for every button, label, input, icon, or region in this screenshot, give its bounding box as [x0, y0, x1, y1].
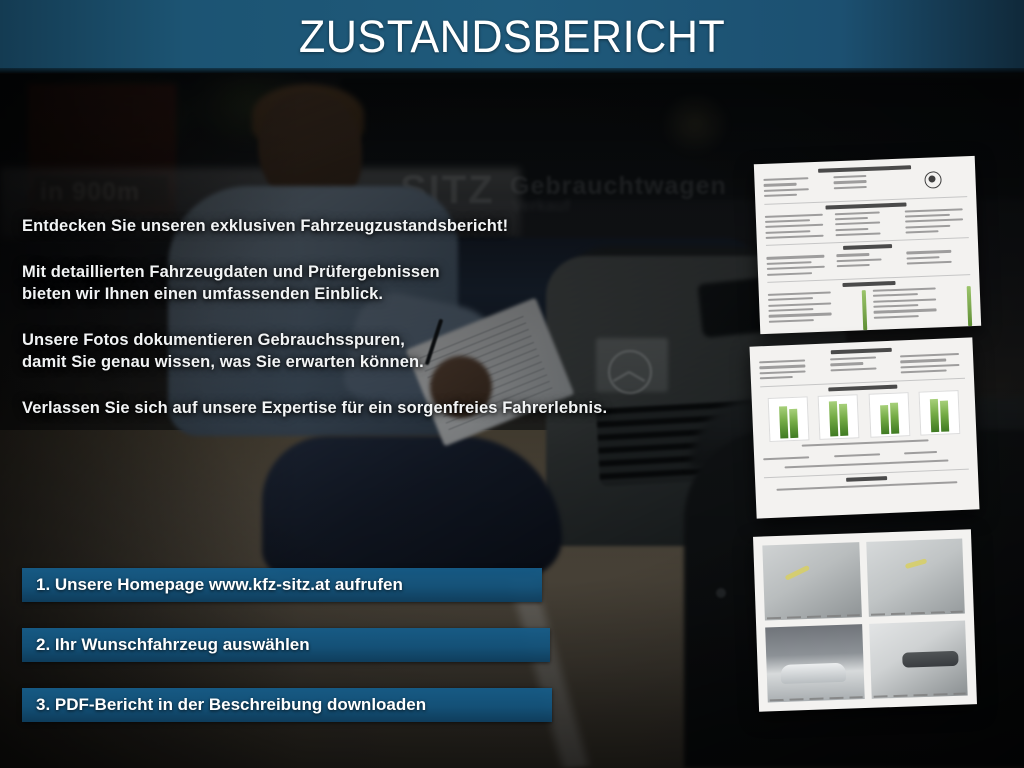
report1-col-a — [763, 177, 827, 201]
report2-notes-mid — [834, 452, 898, 460]
vehicle-data-report-card[interactable] — [754, 156, 981, 334]
step-item-2[interactable]: 2. Ihr Wunschfahrzeug auswählen — [22, 628, 550, 662]
report1-result-left — [768, 290, 856, 333]
report1-heading — [818, 165, 911, 173]
intro-paragraph-1: Entdecken Sie unseren exklusiven Fahrzeu… — [22, 215, 682, 237]
chart-group-karosserie — [768, 396, 810, 442]
intro-copy: Entdecken Sie unseren exklusiven Fahrzeu… — [22, 215, 682, 419]
report1-subheading-3 — [843, 281, 896, 287]
report1-result-right — [873, 286, 961, 329]
report2-chart-heading — [828, 384, 898, 391]
intro-paragraph-2: Mit detaillierten Fahrzeugdaten und Prüf… — [22, 261, 682, 305]
chart-group-technik — [868, 392, 910, 438]
header-banner: ZUSTANDSBERICHT — [0, 0, 1024, 73]
report1-checks-mid — [836, 252, 900, 276]
report2-footer-heading — [846, 476, 887, 482]
report2-col-a — [759, 359, 824, 383]
page-title: ZUSTANDSBERICHT — [299, 11, 725, 63]
report1-col-b — [833, 174, 897, 198]
inspection-chart-report-card[interactable] — [749, 337, 979, 518]
photo-bumper-detail — [869, 621, 968, 699]
step-label-3: 3. PDF-Bericht in der Beschreibung downl… — [36, 695, 426, 715]
report1-score-bar-right — [967, 286, 973, 326]
slide-canvas: SITZ Gebrauchtwagen Verkauf in 900m — [0, 0, 1024, 768]
photo-scratch-front-left — [762, 542, 861, 620]
photo-grid — [762, 539, 967, 703]
step-label-2: 2. Ihr Wunschfahrzeug auswählen — [36, 635, 310, 655]
intro-paragraph-4: Verlassen Sie sich auf unsere Expertise … — [22, 397, 682, 419]
intro-paragraph-3: Unsere Fotos dokumentieren Gebrauchsspur… — [22, 329, 682, 373]
rating-bar-chart — [763, 391, 966, 441]
step-item-3[interactable]: 3. PDF-Bericht in der Beschreibung downl… — [22, 688, 552, 722]
chart-group-reifen — [918, 390, 960, 436]
report1-checks-right — [906, 249, 970, 273]
chart-group-innenraum — [818, 394, 860, 440]
step-label-1: 1. Unsere Homepage www.kfz-sitz.at aufru… — [36, 575, 403, 595]
report1-checks-left — [766, 255, 830, 279]
report2-notes-left — [763, 455, 827, 463]
report2-col-b — [830, 356, 895, 380]
report2-notes-right — [904, 449, 968, 457]
report2-heading — [830, 348, 892, 355]
steps-list: 1. Unsere Homepage www.kfz-sitz.at aufru… — [22, 568, 552, 722]
photo-scratch-front-right — [866, 539, 965, 617]
report1-score-bar-left — [862, 290, 868, 330]
report1-specs-mid — [835, 210, 899, 239]
report2-col-c — [900, 353, 965, 377]
report1-subheading-1 — [825, 202, 906, 209]
step-item-1[interactable]: 1. Unsere Homepage www.kfz-sitz.at aufru… — [22, 568, 542, 602]
report1-specs-right — [905, 208, 969, 237]
photo-vehicle-front — [765, 624, 864, 702]
report1-specs-left — [765, 213, 829, 242]
damage-photo-sheet-card[interactable] — [753, 529, 977, 712]
report1-subheading-2 — [843, 244, 892, 250]
